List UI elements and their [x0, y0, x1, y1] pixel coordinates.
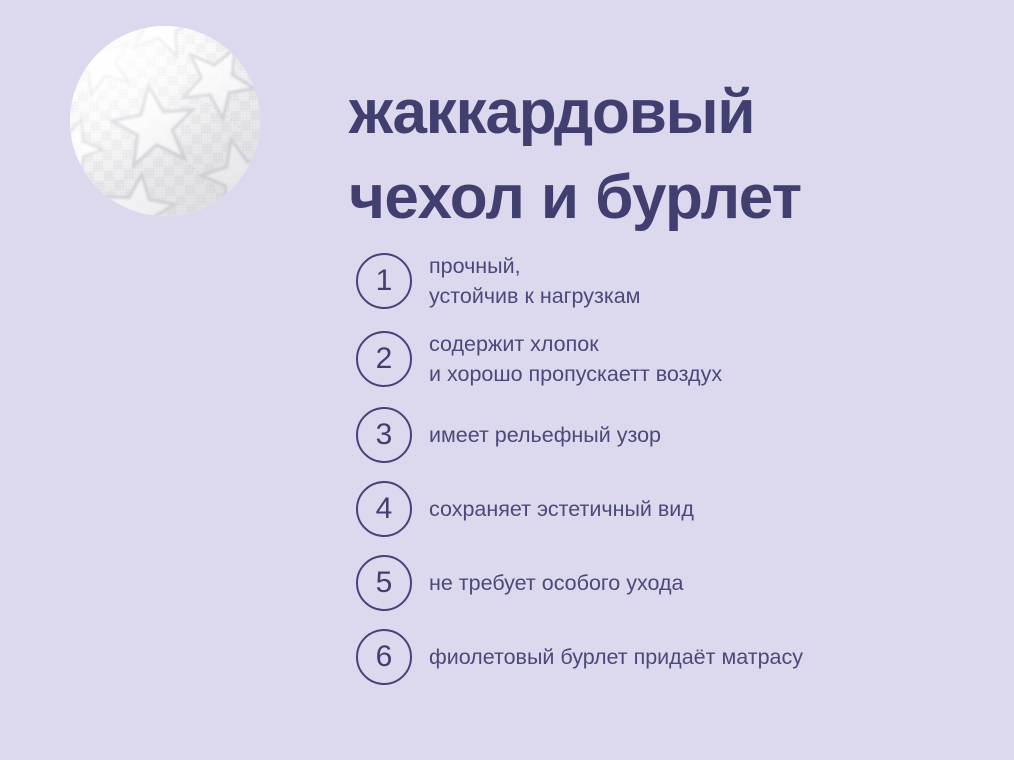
- feature-label: сохраняет эстетичный вид: [429, 494, 694, 524]
- list-item: 1 прочный, устойчив к нагрузкам: [356, 251, 976, 311]
- feature-number-badge: 5: [356, 555, 412, 611]
- fabric-photo-circle: [70, 26, 260, 216]
- list-item: 2 содержит хлопок и хорошо пропускаетт в…: [356, 329, 976, 389]
- fabric-photo-inner: [70, 26, 260, 216]
- feature-label: фиолетовый бурлет придаёт матрасу: [429, 642, 803, 672]
- list-item: 3 имеет рельефный узор: [356, 407, 976, 463]
- feature-number-badge: 3: [356, 407, 412, 463]
- feature-number-badge: 1: [356, 253, 412, 309]
- feature-number-badge: 2: [356, 331, 412, 387]
- list-item: 5 не требует особого ухода: [356, 555, 976, 611]
- feature-number-badge: 6: [356, 629, 412, 685]
- page-title-line-1: жаккардовый: [349, 70, 999, 155]
- feature-label: не требует особого ухода: [429, 568, 683, 598]
- feature-label: прочный, устойчив к нагрузкам: [429, 251, 640, 311]
- feature-label: содержит хлопок и хорошо пропускаетт воз…: [429, 329, 722, 389]
- slide-root: жаккардовый чехол и бурлет 1 прочный, ус…: [0, 0, 1014, 760]
- feature-label: имеет рельефный узор: [429, 420, 661, 450]
- feature-number-badge: 4: [356, 481, 412, 537]
- list-item: 4 сохраняет эстетичный вид: [356, 481, 976, 537]
- list-item: 6 фиолетовый бурлет придаёт матрасу: [356, 629, 976, 685]
- fabric-vignette: [70, 26, 260, 216]
- page-title: жаккардовый чехол и бурлет: [349, 70, 999, 240]
- feature-list: 1 прочный, устойчив к нагрузкам 2 содерж…: [356, 251, 976, 685]
- page-title-line-2: чехол и бурлет: [349, 155, 999, 240]
